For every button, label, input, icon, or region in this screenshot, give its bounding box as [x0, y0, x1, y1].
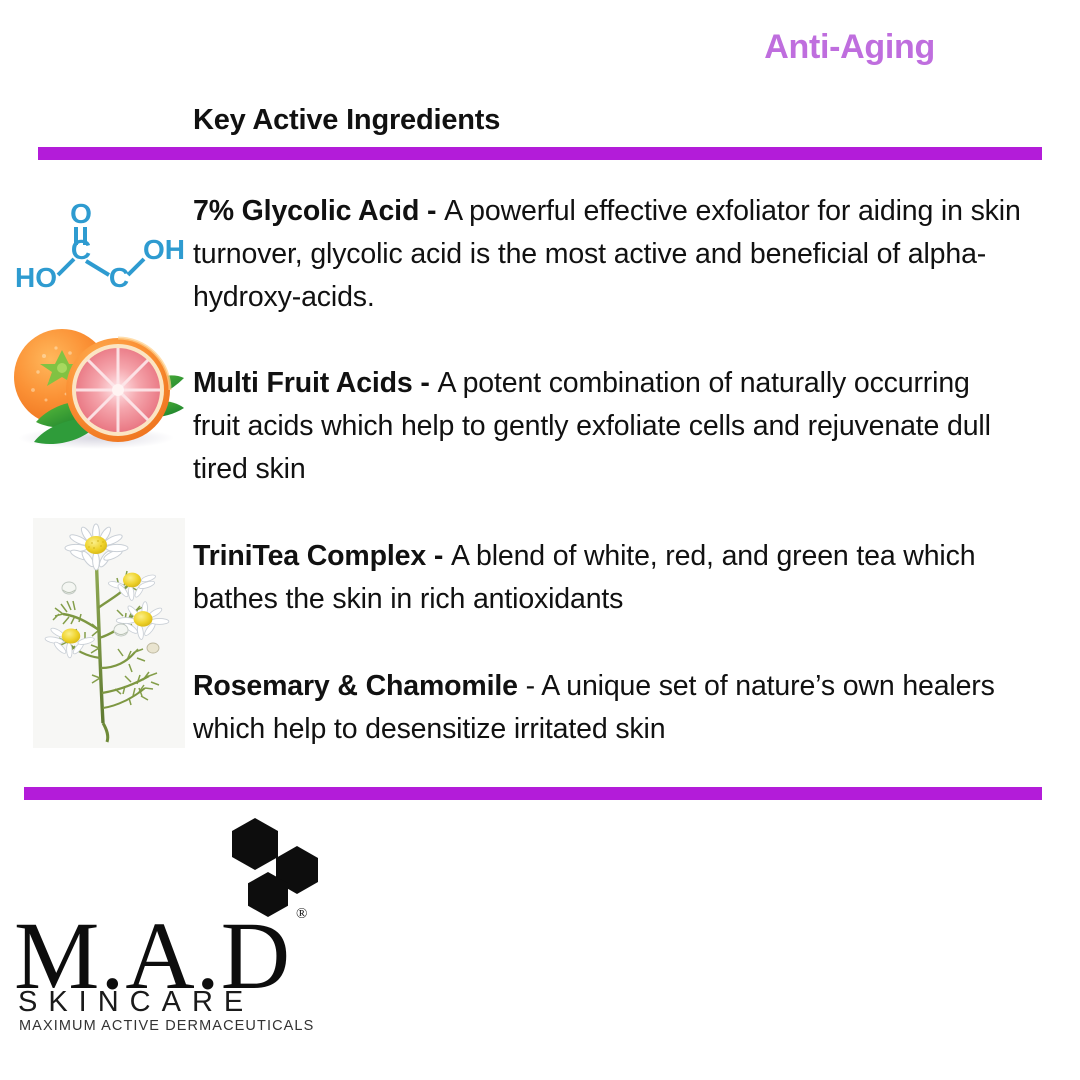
svg-text:OH: OH [143, 234, 185, 265]
ingredient-name-0: 7% Glycolic Acid [193, 195, 419, 227]
ingredient-name-2: TriniTea Complex [193, 540, 426, 572]
registered-trademark-icon: ® [296, 906, 307, 923]
ingredient-description-3: Rosemary & Chamomile - A unique set of n… [193, 665, 1038, 751]
ingredient-description-2: TriniTea Complex - A blend of white, red… [193, 535, 1038, 621]
brand-subtitle: SKINCARE [18, 986, 254, 1019]
category-label: Anti-Aging [764, 28, 935, 67]
page-title: Key Active Ingredients [193, 104, 500, 137]
citrus-fruit-illustration [0, 320, 186, 450]
ingredient-separator-1: - [413, 367, 438, 399]
ingredient-separator-2: - [426, 540, 451, 572]
ingredient-name-3: Rosemary & Chamomile [193, 670, 518, 702]
divider-top [38, 147, 1042, 160]
three-hexagons-icon [230, 818, 322, 913]
divider-bottom [24, 787, 1042, 800]
glycolic-acid-molecule-icon: O C HO C OH [14, 193, 186, 293]
svg-text:C: C [109, 262, 129, 293]
brand-tagline: MAXIMUM ACTIVE DERMACEUTICALS [19, 1018, 314, 1034]
ingredient-separator-3: - [518, 670, 541, 702]
hexagon-top [232, 818, 278, 870]
ingredient-description-0: 7% Glycolic Acid - A powerful effective … [193, 190, 1051, 319]
svg-text:C: C [71, 234, 91, 265]
chamomile-plant-illustration [33, 518, 185, 748]
ingredient-name-1: Multi Fruit Acids [193, 367, 413, 399]
svg-text:O: O [70, 198, 92, 229]
svg-text:HO: HO [15, 262, 57, 293]
ingredient-description-1: Multi Fruit Acids - A potent combination… [193, 362, 999, 491]
ingredient-separator-0: - [419, 195, 444, 227]
brand-logo: ® M.A.D SKINCARE MAXIMUM ACTIVE DERMACEU… [14, 818, 324, 1042]
